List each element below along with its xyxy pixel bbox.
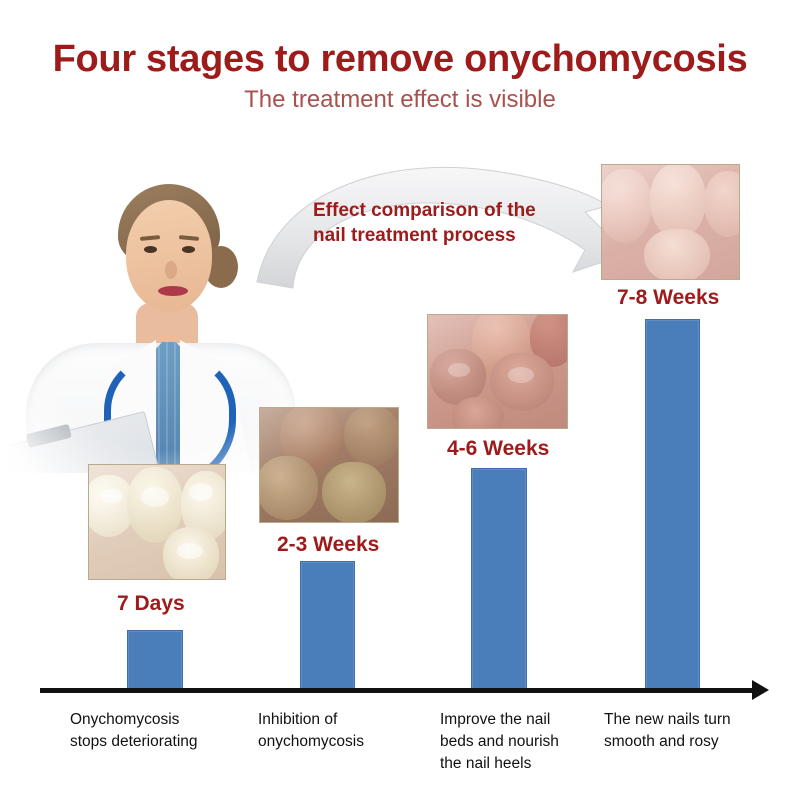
stage-caption-7-days: 7 Days xyxy=(117,592,185,616)
axis-label-line-1: Improve the nail xyxy=(440,709,595,731)
axis-label-stage-3: Improve the nail beds and nourish the na… xyxy=(440,709,595,775)
axis-arrowhead-icon xyxy=(752,680,769,700)
curved-arrow-banner: Effect comparison of the nail treatment … xyxy=(255,150,615,290)
axis-label-stage-2: Inhibition of onychomycosis xyxy=(258,709,423,753)
stage-photo-4-6-weeks xyxy=(427,314,568,429)
stage-photo-7-8-weeks xyxy=(601,164,740,280)
callout-text: Effect comparison of the nail treatment … xyxy=(313,198,563,248)
stage-photo-2-3-weeks xyxy=(259,407,399,523)
axis-label-line-2: smooth and rosy xyxy=(604,731,774,753)
axis-label-line-2: onychomycosis xyxy=(258,731,423,753)
axis-label-line-1: Onychomycosis xyxy=(70,709,235,731)
axis-label-line-2: beds and nourish xyxy=(440,731,595,753)
infographic-canvas: Four stages to remove onychomycosis The … xyxy=(0,0,800,800)
page-title: Four stages to remove onychomycosis xyxy=(0,38,800,81)
axis-label-stage-4: The new nails turn smooth and rosy xyxy=(604,709,774,753)
callout-line-1: Effect comparison of the xyxy=(313,198,563,223)
photo-sheen xyxy=(602,165,739,279)
photo-sheen xyxy=(428,315,567,428)
bar-stage-2 xyxy=(300,561,355,692)
axis-label-line-2: stops deteriorating xyxy=(70,731,235,753)
bar-stage-1 xyxy=(127,630,183,692)
axis-label-line-3: the nail heels xyxy=(440,753,595,775)
axis-label-line-1: The new nails turn xyxy=(604,709,774,731)
callout-line-2: nail treatment process xyxy=(313,223,563,248)
stage-photo-7-days xyxy=(88,464,226,580)
stage-caption-7-8-weeks: 7-8 Weeks xyxy=(617,286,719,310)
photo-sheen xyxy=(260,408,398,522)
bar-stage-3 xyxy=(471,468,527,692)
page-subtitle: The treatment effect is visible xyxy=(0,86,800,114)
axis-line xyxy=(40,688,758,693)
bar-stage-4 xyxy=(645,319,700,692)
stage-caption-4-6-weeks: 4-6 Weeks xyxy=(447,437,549,461)
stage-caption-2-3-weeks: 2-3 Weeks xyxy=(277,533,379,557)
axis-label-line-1: Inhibition of xyxy=(258,709,423,731)
axis-label-stage-1: Onychomycosis stops deteriorating xyxy=(70,709,235,753)
photo-sheen xyxy=(89,465,225,579)
